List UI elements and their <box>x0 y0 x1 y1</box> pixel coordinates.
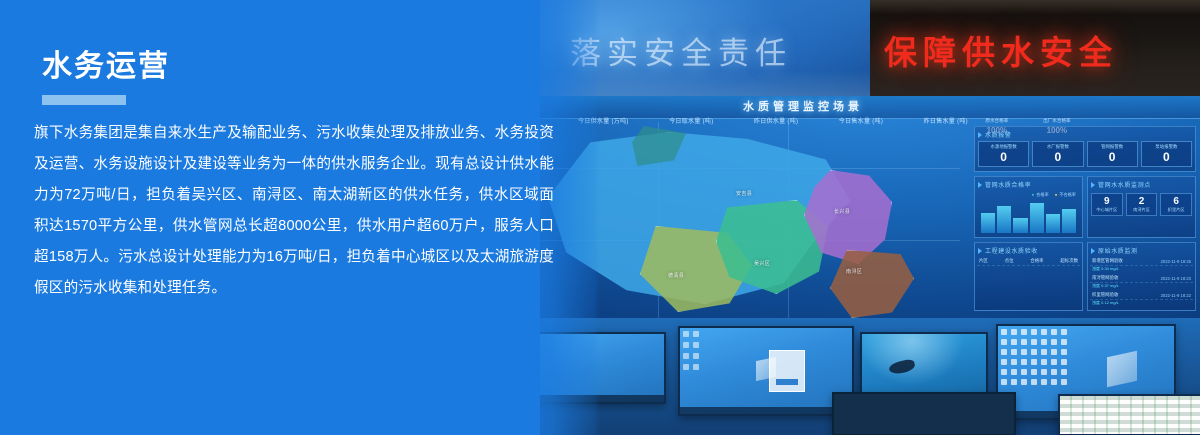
dialog-window[interactable] <box>769 350 805 392</box>
desktop-icon[interactable] <box>1011 359 1017 365</box>
desktop-icon-column[interactable] <box>683 331 701 373</box>
chart-bar <box>1046 214 1060 233</box>
desktop-icon[interactable] <box>683 342 689 348</box>
site-card[interactable]: 6 织里片区 <box>1160 193 1192 216</box>
monitor-screen <box>680 328 852 414</box>
desktop-icon[interactable] <box>1001 359 1007 365</box>
desktop-icon[interactable] <box>1031 329 1037 335</box>
desktop-icon[interactable] <box>1051 329 1057 335</box>
operator-desk <box>540 318 1200 435</box>
alarm-value: 0 <box>1142 151 1191 163</box>
chart-bar <box>997 206 1011 233</box>
panel-title: 管网水质合格率 <box>977 179 1080 191</box>
legend-fail: 不合格率 <box>1055 192 1076 198</box>
desktop-icon[interactable] <box>693 331 699 337</box>
text-content: 水务运营 旗下水务集团是集自来水生产及输配业务、污水收集处理及排放业务、水务投资… <box>0 0 600 435</box>
site-name: 中心城片区 <box>1092 207 1122 213</box>
desktop-icon[interactable] <box>1041 329 1047 335</box>
record-row[interactable]: 新增区管网验收 2022-11-9 18:25 <box>1090 257 1193 266</box>
page-title: 水务运营 <box>42 52 170 82</box>
laptop-body <box>834 394 1014 434</box>
col-rate: 合格率 <box>1030 258 1043 264</box>
desktop-icon[interactable] <box>683 331 689 337</box>
chart-legend: 合格率 不合格率 <box>977 191 1080 199</box>
desktop-icon[interactable] <box>1051 379 1057 385</box>
site-card[interactable]: 9 中心城片区 <box>1091 193 1123 216</box>
panel-row-bottom: 工程建设水质验收 片区 点位 合格率 超标次数 原始水质监测 新增区管网验收 2… <box>974 242 1196 311</box>
desktop-icon[interactable] <box>1061 369 1067 375</box>
record-row[interactable]: 南浔管网验收 2022-11-9 18:23 <box>1090 274 1193 283</box>
desktop-icon[interactable] <box>1031 379 1037 385</box>
record-time: 2022-11-9 18:22 <box>1161 293 1191 298</box>
region-map[interactable]: 安吉县 德清县 吴兴区 长兴县 南浔区 <box>540 122 960 328</box>
record-name: 织里管网验收 <box>1092 292 1118 298</box>
center-desktop-monitor[interactable] <box>678 326 854 416</box>
pass-rate-chart <box>977 199 1080 235</box>
spreadsheet-rows <box>1060 396 1200 434</box>
alarm-card[interactable]: 水厂报警数 0 <box>1032 141 1083 167</box>
panel-title: 原始水质监测 <box>1090 245 1193 257</box>
desktop-icon[interactable] <box>1041 339 1047 345</box>
alarm-value: 0 <box>979 151 1028 163</box>
desktop-icon[interactable] <box>1061 379 1067 385</box>
desktop-icon[interactable] <box>683 353 689 359</box>
dashboard-side-panels: 水质报警 水源地报警数 0 水厂报警数 0 管网报警数 0 <box>970 122 1200 328</box>
desktop-icon[interactable] <box>1001 339 1007 345</box>
site-name: 织里片区 <box>1161 207 1191 213</box>
title-underline-bar <box>42 95 126 105</box>
desktop-icon[interactable] <box>683 364 689 370</box>
map-label-deqing: 德清县 <box>668 272 684 279</box>
desktop-icon[interactable] <box>1031 339 1037 345</box>
desktop-icon[interactable] <box>693 364 699 370</box>
record-row[interactable]: 织里管网验收 2022-11-9 18:22 <box>1090 291 1193 300</box>
slogan-white: 落实安全责任 <box>570 28 792 73</box>
desktop-icon[interactable] <box>1041 349 1047 355</box>
desktop-icon[interactable] <box>693 342 699 348</box>
desktop-icon[interactable] <box>1051 359 1057 365</box>
col-area: 片区 <box>979 258 988 264</box>
desktop-icon[interactable] <box>1061 339 1067 345</box>
spreadsheet-laptop[interactable] <box>832 392 1016 435</box>
desktop-icon[interactable] <box>1021 359 1027 365</box>
desktop-icon[interactable] <box>693 353 699 359</box>
record-metrics: 浊度 0.12 mg/L <box>1090 300 1193 308</box>
desktop-icon[interactable] <box>1011 349 1017 355</box>
water-operations-banner: 落实安全责任 保障供水安全 水质管理监控场景 今日供水量 (万吨) 今日取水量 … <box>0 0 1200 435</box>
desktop-icon[interactable] <box>1051 369 1057 375</box>
desktop-icon[interactable] <box>1041 359 1047 365</box>
panel-title: 管网水水质监测点 <box>1090 179 1193 191</box>
diver-silhouette <box>888 358 916 376</box>
map-label-changxing: 长兴县 <box>834 208 850 215</box>
desktop-icon[interactable] <box>1031 369 1037 375</box>
legend-pass: 合格率 <box>1032 192 1049 198</box>
col-point: 点位 <box>1005 258 1014 264</box>
panel-monitoring-sites: 管网水水质监测点 9 中心城片区 2 南浔片区 6 <box>1087 176 1196 238</box>
panel-title: 水质报警 <box>977 129 1193 141</box>
desktop-icon[interactable] <box>1041 369 1047 375</box>
panel-water-quality-alarm: 水质报警 水源地报警数 0 水厂报警数 0 管网报警数 0 <box>974 126 1196 172</box>
record-metric-turbidity: 浊度 0.12 mg/L <box>1092 300 1119 305</box>
panel-network-pass-rate: 管网水质合格率 合格率 不合格率 <box>974 176 1083 238</box>
desktop-icon[interactable] <box>1021 339 1027 345</box>
alarm-card[interactable]: 管网报警数 0 <box>1087 141 1138 167</box>
desktop-icon[interactable] <box>1021 329 1027 335</box>
map-label-anji: 安吉县 <box>736 190 752 197</box>
record-name: 新增区管网验收 <box>1092 258 1123 264</box>
monitor-screen <box>1060 396 1200 434</box>
desktop-icon[interactable] <box>1051 339 1057 345</box>
water-quality-dashboard: 水质管理监控场景 今日供水量 (万吨) 今日取水量 (吨) 昨日供水量 (吨) … <box>540 96 1200 328</box>
desktop-icon[interactable] <box>1021 349 1027 355</box>
desktop-icon[interactable] <box>1061 359 1067 365</box>
site-name: 南浔片区 <box>1127 207 1157 213</box>
desktop-icon[interactable] <box>1051 349 1057 355</box>
chart-bar <box>1013 218 1027 233</box>
desktop-icon[interactable] <box>1011 369 1017 375</box>
control-room-photo: 落实安全责任 保障供水安全 水质管理监控场景 今日供水量 (万吨) 今日取水量 … <box>540 0 1200 435</box>
desktop-icon[interactable] <box>1061 349 1067 355</box>
dashboard-title: 水质管理监控场景 <box>688 98 918 114</box>
record-metric-turbidity: 浊度 0.37 mg/L <box>1092 283 1119 288</box>
table-header-row: 片区 点位 合格率 超标次数 <box>977 257 1080 266</box>
site-card[interactable]: 2 南浔片区 <box>1126 193 1158 216</box>
desktop-icon[interactable] <box>1061 329 1067 335</box>
chart-bar <box>1030 203 1044 233</box>
desktop-icon[interactable] <box>1001 379 1007 385</box>
alarm-card[interactable]: 水源地报警数 0 <box>978 141 1029 167</box>
col-exceed: 超标次数 <box>1060 258 1078 264</box>
chart-bar <box>1062 209 1076 233</box>
record-metric-turbidity: 浊度 0.34 mg/L <box>1092 266 1119 271</box>
record-metrics: 浊度 0.37 mg/L <box>1090 283 1193 291</box>
record-name: 南浔管网验收 <box>1092 275 1118 281</box>
record-time: 2022-11-9 18:23 <box>1161 276 1191 281</box>
desktop-icon[interactable] <box>1001 329 1007 335</box>
record-metrics: 浊度 0.34 mg/L <box>1090 266 1193 274</box>
desktop-icon[interactable] <box>1011 339 1017 345</box>
panel-raw-water-quality: 原始水质监测 新增区管网验收 2022-11-9 18:25 浊度 0.34 m… <box>1087 242 1196 311</box>
map-label-wuxing: 吴兴区 <box>754 260 770 267</box>
desktop-icon[interactable] <box>1011 329 1017 335</box>
panel-row-middle: 管网水质合格率 合格率 不合格率 <box>974 176 1196 238</box>
desktop-icon-grid[interactable] <box>1001 329 1069 387</box>
desktop-icon[interactable] <box>1041 379 1047 385</box>
alarm-value: 0 <box>1088 151 1137 163</box>
desktop-icon[interactable] <box>1001 369 1007 375</box>
site-card-grid: 9 中心城片区 2 南浔片区 6 织里片区 <box>1090 191 1193 218</box>
spreadsheet-screen[interactable] <box>1058 394 1200 435</box>
map-region-nanxun[interactable] <box>830 250 914 318</box>
site-count: 6 <box>1161 196 1191 207</box>
desktop-icon[interactable] <box>1021 369 1027 375</box>
alarm-card-grid: 水源地报警数 0 水厂报警数 0 管网报警数 0 泵站报警数 <box>977 141 1193 169</box>
desktop-icon[interactable] <box>1031 349 1037 355</box>
slogan-red: 保障供水安全 <box>884 26 1118 74</box>
site-count: 9 <box>1092 196 1122 207</box>
desktop-icon[interactable] <box>1031 359 1037 365</box>
body-paragraph: 旗下水务集团是集自来水生产及输配业务、污水收集处理及排放业务、水务投资及运营、水… <box>34 118 554 304</box>
desktop-icon[interactable] <box>1011 379 1017 385</box>
map-label-nanxun: 南浔区 <box>846 268 862 275</box>
chart-bar <box>981 213 995 233</box>
taskbar[interactable] <box>680 407 852 414</box>
desktop-icon[interactable] <box>1021 379 1027 385</box>
alarm-value: 0 <box>1033 151 1082 163</box>
site-count: 2 <box>1127 196 1157 207</box>
record-time: 2022-11-9 18:25 <box>1161 259 1191 264</box>
alarm-card[interactable]: 泵站报警数 0 <box>1141 141 1192 167</box>
windows-logo-icon <box>1107 350 1137 386</box>
desktop-icon[interactable] <box>1001 349 1007 355</box>
panel-title: 工程建设水质验收 <box>977 245 1080 257</box>
panel-construction-acceptance: 工程建设水质验收 片区 点位 合格率 超标次数 <box>974 242 1083 311</box>
